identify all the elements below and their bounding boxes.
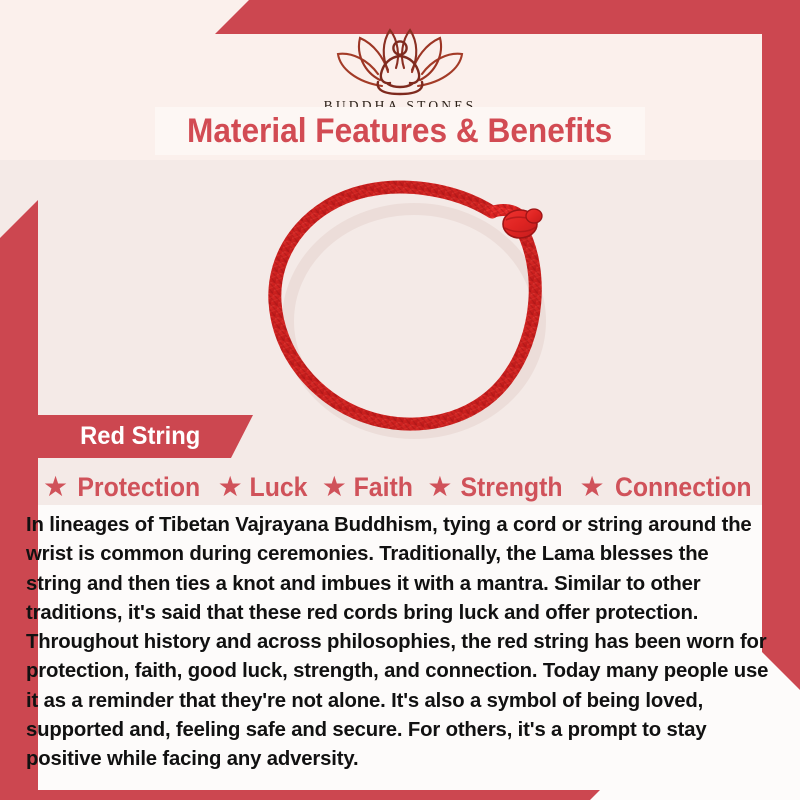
benefit-item-0: ★ Protection — [43, 472, 206, 503]
benefit-item-1: ★ Luck — [218, 472, 310, 503]
benefit-item-4: ★ Connection — [579, 472, 757, 503]
benefits-row: ★ Protection ★ Luck ★ Faith ★ Strength ★… — [30, 466, 770, 508]
lotus-meditating-figure-icon — [320, 24, 480, 96]
benefit-item-3: ★ Strength — [427, 472, 567, 503]
description-paragraph: In lineages of Tibetan Vajrayana Buddhis… — [26, 511, 768, 775]
star-icon: ★ — [43, 473, 68, 501]
material-label-banner: Red String — [38, 415, 253, 458]
star-icon: ★ — [218, 473, 243, 501]
benefit-label: Protection — [77, 472, 200, 503]
brand-logo: BUDDHA STONES — [0, 24, 800, 114]
benefit-item-2: ★ Faith — [322, 472, 416, 503]
decorative-bar-bottom — [0, 790, 600, 800]
benefit-label: Faith — [353, 472, 412, 503]
star-icon: ★ — [427, 473, 452, 501]
benefit-label: Luck — [249, 472, 307, 503]
star-icon: ★ — [322, 473, 347, 501]
material-label: Red String — [42, 422, 200, 451]
benefit-label: Strength — [461, 472, 563, 503]
infographic-root: BUDDHA STONES Material Features & Benefi… — [0, 0, 800, 800]
product-image-bracelet — [248, 176, 578, 441]
page-title: Material Features & Benefits — [187, 112, 612, 151]
benefit-label: Connection — [614, 472, 751, 503]
star-icon: ★ — [579, 473, 604, 501]
title-banner: Material Features & Benefits — [155, 107, 645, 155]
